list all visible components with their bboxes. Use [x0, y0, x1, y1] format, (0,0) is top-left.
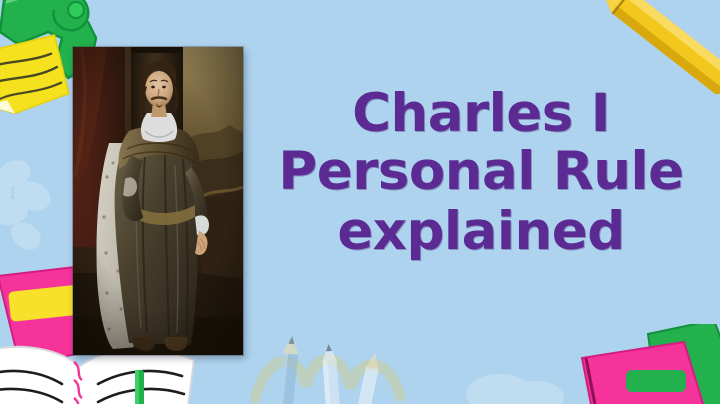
sticky-note-icon	[0, 32, 75, 123]
title-line-2: Personal Rule	[258, 146, 704, 198]
title-line-1: Charles I	[258, 88, 704, 140]
title-block: Charles I Personal Rule explained	[258, 88, 704, 258]
faded-pencils-icon	[258, 336, 398, 404]
stacked-books-icon	[564, 324, 720, 404]
flower-watermark-icon	[0, 150, 68, 270]
green-pen-icon	[124, 366, 154, 404]
charles-i-portrait	[73, 47, 243, 355]
title-line-3: explained	[258, 206, 704, 258]
slide-canvas: Charles I Personal Rule explained	[0, 0, 720, 404]
pencil-icon	[580, 0, 720, 94]
cloud-watermark-icon	[460, 354, 580, 404]
